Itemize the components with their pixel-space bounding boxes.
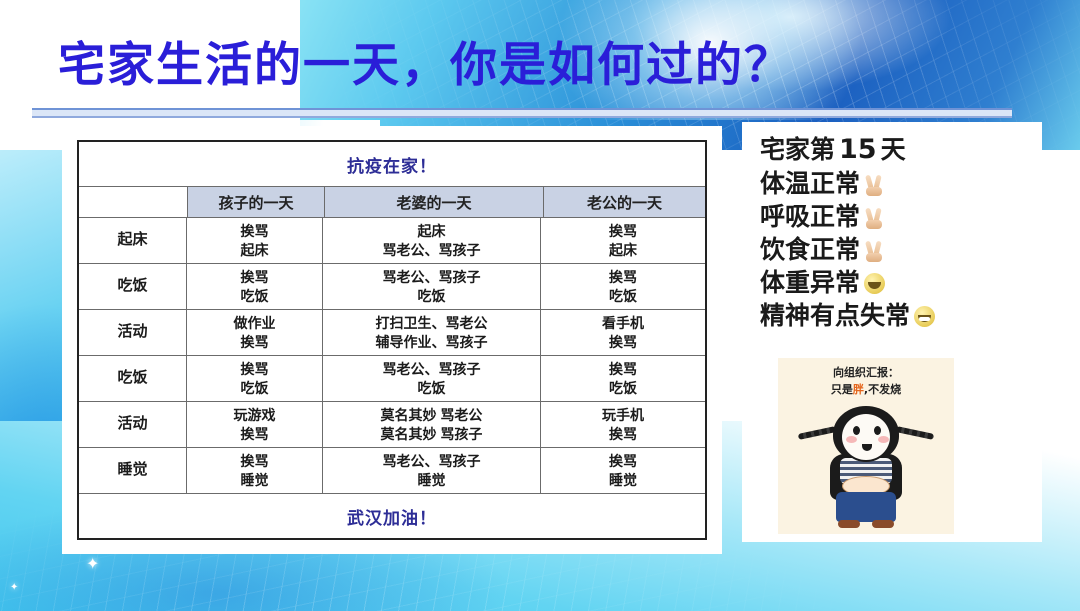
status-prefix: 宅家第 (760, 135, 835, 165)
row-time-label: 睡觉 (79, 448, 187, 493)
shoe-right-icon (872, 520, 894, 528)
status-line-day-count: 宅家第15天 (760, 134, 1030, 166)
row-kid-cell: 挨骂 吃饭 (187, 264, 323, 309)
face-covering-icon (864, 273, 885, 294)
victory-hand-icon (864, 205, 884, 229)
cell-line: 挨骂 (241, 360, 269, 379)
table-row: 起床 挨骂 起床 起床 骂老公、骂孩子 挨骂 起床 (79, 218, 705, 264)
status-line-temperature: 体温正常 (760, 169, 1030, 199)
status-text: 呼吸正常 (760, 202, 860, 232)
row-kid-cell: 挨骂 睡觉 (187, 448, 323, 493)
row-husband-cell: 挨骂 起床 (541, 218, 705, 263)
cell-line: 挨骂 (609, 425, 637, 444)
status-text: 体温正常 (760, 169, 860, 199)
pants-icon (836, 492, 896, 522)
cell-line: 挨骂 (241, 268, 269, 287)
daily-routine-table: 抗疫在家！ 孩子的一天 老婆的一天 老公的一天 起床 挨骂 起床 起床 骂老公、… (77, 140, 707, 540)
cartoon-caption: 向组织汇报： 只是胖,不发烧 (778, 365, 954, 398)
victory-hand-icon (864, 172, 884, 196)
row-kid-cell: 挨骂 起床 (187, 218, 323, 263)
status-line-diet: 饮食正常 (760, 235, 1030, 265)
cell-line: 起床 (241, 241, 269, 260)
status-report-lines: 宅家第15天 体温正常 呼吸正常 饮食正常 体重异常 精神有点失常 (760, 134, 1030, 334)
status-line-mental: 精神有点失常 (760, 301, 1030, 331)
row-time-label: 吃饭 (79, 356, 187, 401)
cell-line: 挨骂 (241, 425, 269, 444)
cartoon-meme: 向组织汇报： 只是胖,不发烧 (778, 358, 954, 534)
cell-line: 挨骂 (609, 333, 637, 352)
table-header-cell-husband: 老公的一天 (544, 187, 705, 217)
sparkle-icon: ✦ (10, 583, 18, 593)
eye-left-icon (853, 426, 860, 435)
cell-line: 骂老公、骂孩子 (383, 452, 481, 471)
cell-line: 睡觉 (609, 471, 637, 490)
cell-line: 睡觉 (418, 471, 446, 490)
table-header-cell-wife: 老婆的一天 (325, 187, 544, 217)
caption-highlight: 胖 (853, 383, 864, 396)
grimacing-face-icon (914, 306, 935, 327)
cell-line: 挨骂 (609, 360, 637, 379)
row-wife-cell: 骂老公、骂孩子 睡觉 (323, 448, 541, 493)
table-header-cell-kid: 孩子的一天 (188, 187, 325, 217)
cell-line: 打扫卫生、骂老公 (376, 314, 488, 333)
table-row: 活动 玩游戏 挨骂 莫名其妙 骂老公 莫名其妙 骂孩子 玩手机 挨骂 (79, 402, 705, 448)
cell-line: 莫名其妙 骂孩子 (381, 425, 483, 444)
cell-line: 吃饭 (418, 379, 446, 398)
cartoon-caption-line1: 向组织汇报： (778, 365, 954, 382)
blush-right-icon (878, 436, 889, 443)
table-row: 睡觉 挨骂 睡觉 骂老公、骂孩子 睡觉 挨骂 睡觉 (79, 448, 705, 494)
row-wife-cell: 起床 骂老公、骂孩子 (323, 218, 541, 263)
sparkle-icon: ✦ (86, 557, 99, 573)
row-husband-cell: 看手机 挨骂 (541, 310, 705, 355)
cell-line: 起床 (609, 241, 637, 260)
table-row: 吃饭 挨骂 吃饭 骂老公、骂孩子 吃饭 挨骂 吃饭 (79, 356, 705, 402)
row-wife-cell: 骂老公、骂孩子 吃饭 (323, 356, 541, 401)
status-line-breathing: 呼吸正常 (760, 202, 1030, 232)
braid-right-icon (896, 426, 934, 440)
cell-line: 辅导作业、骂孩子 (376, 333, 488, 352)
row-kid-cell: 做作业 挨骂 (187, 310, 323, 355)
cell-line: 骂老公、骂孩子 (383, 268, 481, 287)
row-wife-cell: 打扫卫生、骂老公 辅导作业、骂孩子 (323, 310, 541, 355)
cell-line: 挨骂 (241, 222, 269, 241)
table-caption: 抗疫在家！ (79, 142, 705, 187)
row-wife-cell: 莫名其妙 骂老公 莫名其妙 骂孩子 (323, 402, 541, 447)
cell-line: 玩游戏 (234, 406, 276, 425)
row-time-label: 吃饭 (79, 264, 187, 309)
cell-line: 挨骂 (241, 333, 269, 352)
shoe-left-icon (838, 520, 860, 528)
caption-part1: 只是 (831, 383, 853, 396)
cell-line: 莫名其妙 骂老公 (381, 406, 483, 425)
cell-line: 骂老公、骂孩子 (383, 360, 481, 379)
cell-line: 挨骂 (609, 452, 637, 471)
cell-line: 睡觉 (241, 471, 269, 490)
eye-right-icon (874, 426, 881, 435)
cell-line: 吃饭 (609, 287, 637, 306)
row-husband-cell: 挨骂 睡觉 (541, 448, 705, 493)
title-divider (32, 108, 1012, 118)
status-line-weight: 体重异常 (760, 268, 1030, 298)
cell-line: 玩手机 (602, 406, 644, 425)
row-time-label: 活动 (79, 310, 187, 355)
braid-left-icon (798, 426, 836, 440)
row-husband-cell: 玩手机 挨骂 (541, 402, 705, 447)
cell-line: 挨骂 (609, 222, 637, 241)
row-time-label: 起床 (79, 218, 187, 263)
status-text: 体重异常 (760, 268, 860, 298)
cell-line: 起床 (418, 222, 446, 241)
row-kid-cell: 玩游戏 挨骂 (187, 402, 323, 447)
slide-canvas: ✦ ✦ ✦ ✦ 宅家生活的一天，你是如何过的？ 抗疫在家！ 孩子的一天 老婆的一… (0, 0, 1080, 611)
table-footer: 武汉加油！ (79, 494, 705, 538)
row-husband-cell: 挨骂 吃饭 (541, 356, 705, 401)
cartoon-caption-line2: 只是胖,不发烧 (778, 382, 954, 399)
table-row: 活动 做作业 挨骂 打扫卫生、骂老公 辅导作业、骂孩子 看手机 挨骂 (79, 310, 705, 356)
page-title: 宅家生活的一天，你是如何过的？ (58, 26, 793, 95)
blush-left-icon (846, 436, 857, 443)
status-text: 饮食正常 (760, 235, 860, 265)
row-time-label: 活动 (79, 402, 187, 447)
row-husband-cell: 挨骂 吃饭 (541, 264, 705, 309)
cartoon-figure (778, 402, 954, 530)
cell-line: 做作业 (234, 314, 276, 333)
cell-line: 挨骂 (241, 452, 269, 471)
status-day-number: 15 (839, 134, 877, 166)
cell-line: 吃饭 (418, 287, 446, 306)
victory-hand-icon (864, 238, 884, 262)
status-text: 精神有点失常 (760, 301, 910, 331)
cell-line: 吃饭 (241, 287, 269, 306)
cell-line: 骂老公、骂孩子 (383, 241, 481, 260)
table-row: 吃饭 挨骂 吃饭 骂老公、骂孩子 吃饭 挨骂 吃饭 (79, 264, 705, 310)
cell-line: 吃饭 (241, 379, 269, 398)
table-card: 抗疫在家！ 孩子的一天 老婆的一天 老公的一天 起床 挨骂 起床 起床 骂老公、… (62, 126, 722, 554)
cell-line: 挨骂 (609, 268, 637, 287)
table-header-row: 孩子的一天 老婆的一天 老公的一天 (79, 187, 705, 218)
status-suffix: 天 (881, 135, 906, 165)
row-kid-cell: 挨骂 吃饭 (187, 356, 323, 401)
cell-line: 吃饭 (609, 379, 637, 398)
caption-part2: ,不发烧 (864, 383, 901, 396)
row-wife-cell: 骂老公、骂孩子 吃饭 (323, 264, 541, 309)
table-header-cell-time (79, 187, 188, 217)
cell-line: 看手机 (602, 314, 644, 333)
